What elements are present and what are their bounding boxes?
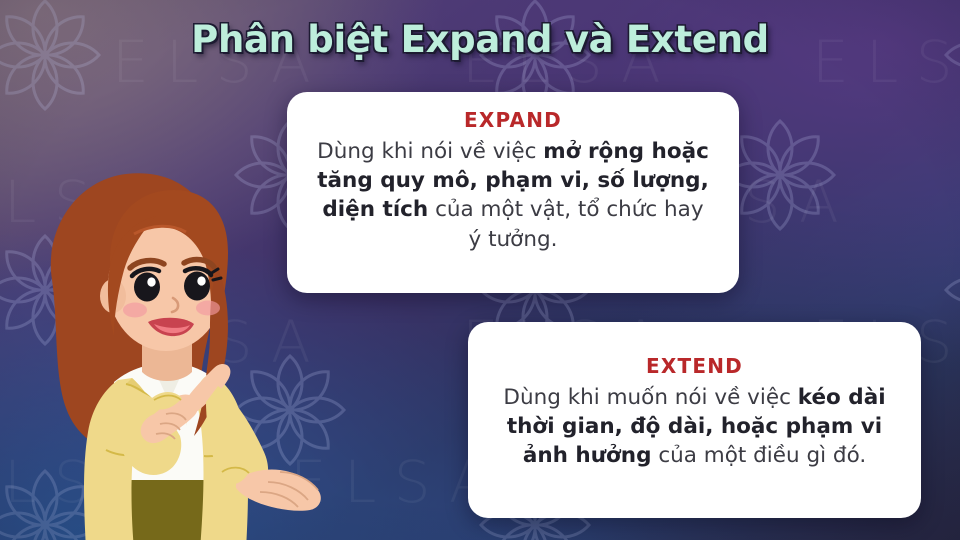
card-heading-extend: EXTEND bbox=[490, 354, 899, 378]
slide-canvas: ELSA ELSA ELSA ELSA ELSA ELSA ELSA ELSA … bbox=[0, 0, 960, 540]
slide-title: Phân biệt Expand và Extend bbox=[0, 18, 960, 61]
definition-card-extend: EXTEND Dùng khi muốn nói về việc kéo dài… bbox=[468, 322, 921, 518]
card-body-extend: Dùng khi muốn nói về việc kéo dài thời g… bbox=[490, 383, 899, 471]
card-body-expand: Dùng khi nói về việc mở rộng hoặc tăng q… bbox=[313, 137, 713, 254]
definition-card-expand: EXPAND Dùng khi nói về việc mở rộng hoặc… bbox=[287, 92, 739, 293]
card-heading-expand: EXPAND bbox=[313, 108, 713, 132]
